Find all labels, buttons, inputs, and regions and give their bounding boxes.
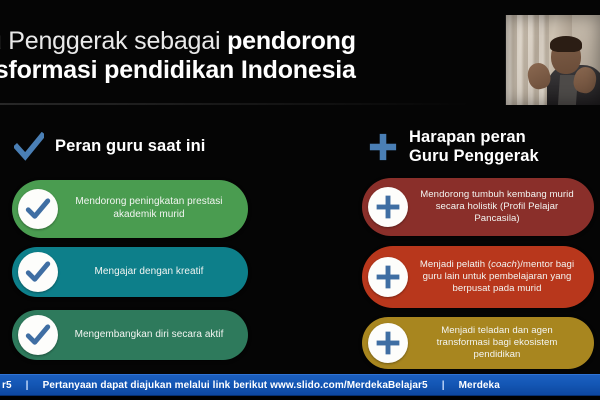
footer-black-strip — [0, 396, 600, 400]
plus-badge — [368, 257, 408, 297]
left-item-pill[interactable]: Mengajar dengan kreatif — [12, 247, 248, 297]
presentation-slide: uru Penggerak sebagai pendorong ansforma… — [0, 0, 600, 400]
title-line-2: ansformasi pendidikan Indonesia — [0, 56, 486, 85]
plus-icon — [375, 264, 401, 290]
right-item-text: Menjadi pelatih (coach)/mentor bagi guru… — [408, 259, 584, 296]
title-strong-text: pendorong — [227, 27, 356, 55]
webcam-video-thumbnail[interactable] — [505, 15, 600, 105]
right-heading-line-1: Harapan peran — [409, 128, 539, 147]
check-icon — [14, 132, 44, 162]
ticker-content: r5 | Pertanyaan dapat diajukan melalui l… — [0, 380, 500, 391]
right-item-pill[interactable]: Menjadi pelatih (coach)/mentor bagi guru… — [362, 246, 594, 308]
left-column-heading-text: Peran guru saat ini — [55, 137, 205, 156]
ticker-left-fragment: r5 — [2, 380, 12, 391]
webcam-vignette — [506, 15, 600, 105]
left-column-header: Peran guru saat ini — [14, 132, 205, 162]
right-item-pill[interactable]: Mendorong tumbuh kembang murid secara ho… — [362, 178, 594, 236]
ticker-separator: | — [26, 380, 29, 391]
plus-icon — [375, 330, 401, 356]
right-column-heading-text: Harapan peran Guru Penggerak — [409, 128, 539, 166]
right-heading-line-2: Guru Penggerak — [409, 147, 539, 166]
title-line-1: uru Penggerak sebagai pendorong — [0, 27, 486, 56]
right-item-text: Menjadi teladan dan agen transformasi ba… — [408, 325, 584, 362]
check-badge — [18, 252, 58, 292]
title-underline-rule — [0, 103, 470, 105]
left-item-pill[interactable]: Mengembangkan diri secara aktif — [12, 310, 248, 360]
left-item-text: Mengajar dengan kreatif — [58, 266, 238, 279]
right-item-text-before: Menjadi pelatih ( — [420, 259, 491, 270]
scrolling-ticker-bar: r5 | Pertanyaan dapat diajukan melalui l… — [0, 374, 600, 396]
check-badge — [18, 315, 58, 355]
check-icon — [25, 322, 51, 348]
title-normal-text: uru Penggerak sebagai — [0, 27, 227, 55]
plus-icon — [375, 194, 401, 220]
left-item-text: Mendorong peningkatan prestasi akademik … — [58, 196, 238, 222]
left-item-pill[interactable]: Mendorong peningkatan prestasi akademik … — [12, 180, 248, 238]
ticker-message: Pertanyaan dapat diajukan melalui link b… — [43, 380, 428, 391]
right-item-pill[interactable]: Menjadi teladan dan agen transformasi ba… — [362, 317, 594, 369]
check-icon — [25, 196, 51, 222]
right-column-header: Harapan peran Guru Penggerak — [368, 128, 539, 166]
right-item-text-italic: coach — [491, 259, 517, 270]
plus-badge — [368, 323, 408, 363]
check-icon — [25, 259, 51, 285]
left-item-text: Mengembangkan diri secara aktif — [58, 329, 238, 342]
ticker-separator: | — [442, 380, 445, 391]
slide-title: uru Penggerak sebagai pendorong ansforma… — [0, 27, 486, 85]
check-badge — [18, 189, 58, 229]
right-item-text: Mendorong tumbuh kembang murid secara ho… — [408, 189, 584, 226]
plus-badge — [368, 187, 408, 227]
ticker-right-fragment: Merdeka — [459, 380, 500, 391]
plus-icon — [368, 132, 398, 162]
